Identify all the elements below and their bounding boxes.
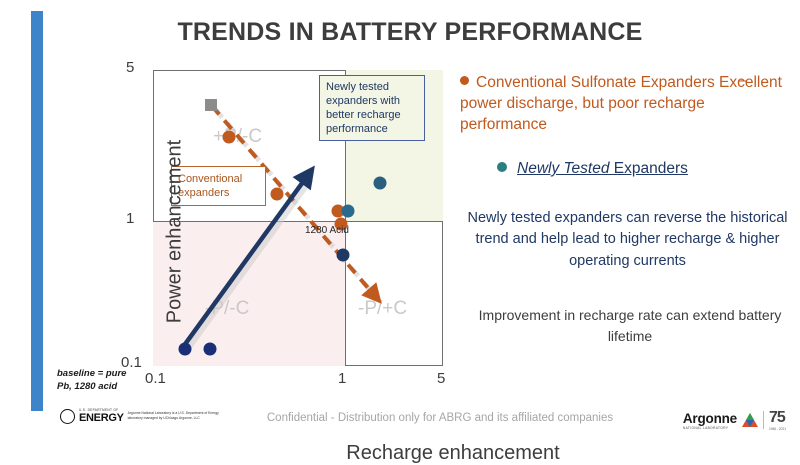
data-point-newly-tested <box>337 249 350 262</box>
argonne-logo-divider <box>763 411 764 429</box>
baseline-note: baseline = pure Pb, 1280 acid <box>57 368 143 394</box>
doe-lab-credit: Argonne National Laboratory is a U.S. De… <box>128 411 220 421</box>
y-axis-label: Power enhancement <box>164 82 187 382</box>
annotation-box-newly-tested: Newly tested expanders with better recha… <box>319 75 425 141</box>
x-tick-1: 1 <box>338 370 346 387</box>
argonne-75-years: 1946 - 2021 <box>769 427 786 431</box>
argonne-logo: Argonne NATIONAL LABORATORY 75 1946 - 20… <box>683 409 786 431</box>
paragraph-reverse-trend: Newly tested expanders can reverse the h… <box>465 208 790 272</box>
argonne-triangle-icon <box>742 413 758 428</box>
data-point-newly-tested <box>204 343 217 356</box>
x-tick-5: 5 <box>437 370 445 387</box>
data-point-conventional <box>271 188 284 201</box>
bullet-newly-tested-plain: Expanders <box>609 160 687 177</box>
slide-canvas: TRENDS IN BATTERY PERFORMANCE 5 1 0.1 0.… <box>0 0 800 450</box>
bullet-dot-teal-icon <box>497 162 507 172</box>
data-point-conventional <box>223 131 236 144</box>
y-tick-5: 5 <box>126 59 134 76</box>
data-point-newly-tested <box>342 205 355 218</box>
y-tick-1: 1 <box>126 210 134 227</box>
data-point-baseline-square <box>205 99 217 111</box>
doe-seal-icon <box>60 409 75 424</box>
bullet-dash-separator: – <box>738 72 747 90</box>
argonne-wordmark: Argonne <box>683 411 737 426</box>
right-content-panel: Conventional Sulfonate Expanders Excelle… <box>455 0 800 450</box>
bullet-conventional-text: Conventional Sulfonate Expanders Excelle… <box>460 74 782 133</box>
doe-energy-logo: U.S. DEPARTMENT OF ENERGY Argonne Nation… <box>60 408 220 424</box>
argonne-75-badge: 75 <box>769 409 786 427</box>
bullet-newly-tested-italic: Newly Tested <box>517 160 609 177</box>
chart-plot-area: 5 1 0.1 0.1 1 5 +P/-C -P/-C -P/+C <box>153 70 443 366</box>
doe-wordmark: ENERGY <box>79 412 124 424</box>
argonne-tagline: NATIONAL LABORATORY <box>683 426 737 430</box>
bullet-newly-tested: Newly Tested Expanders <box>497 160 787 178</box>
annotation-1280-acid: 1280 Acid <box>305 225 349 236</box>
data-point-newly-tested <box>374 177 387 190</box>
paragraph-battery-lifetime: Improvement in recharge rate can extend … <box>475 305 785 346</box>
bullet-dot-orange-icon <box>460 76 469 85</box>
footer-confidential-notice: Confidential - Distribution only for ABR… <box>240 412 640 424</box>
left-accent-bar <box>31 11 43 411</box>
